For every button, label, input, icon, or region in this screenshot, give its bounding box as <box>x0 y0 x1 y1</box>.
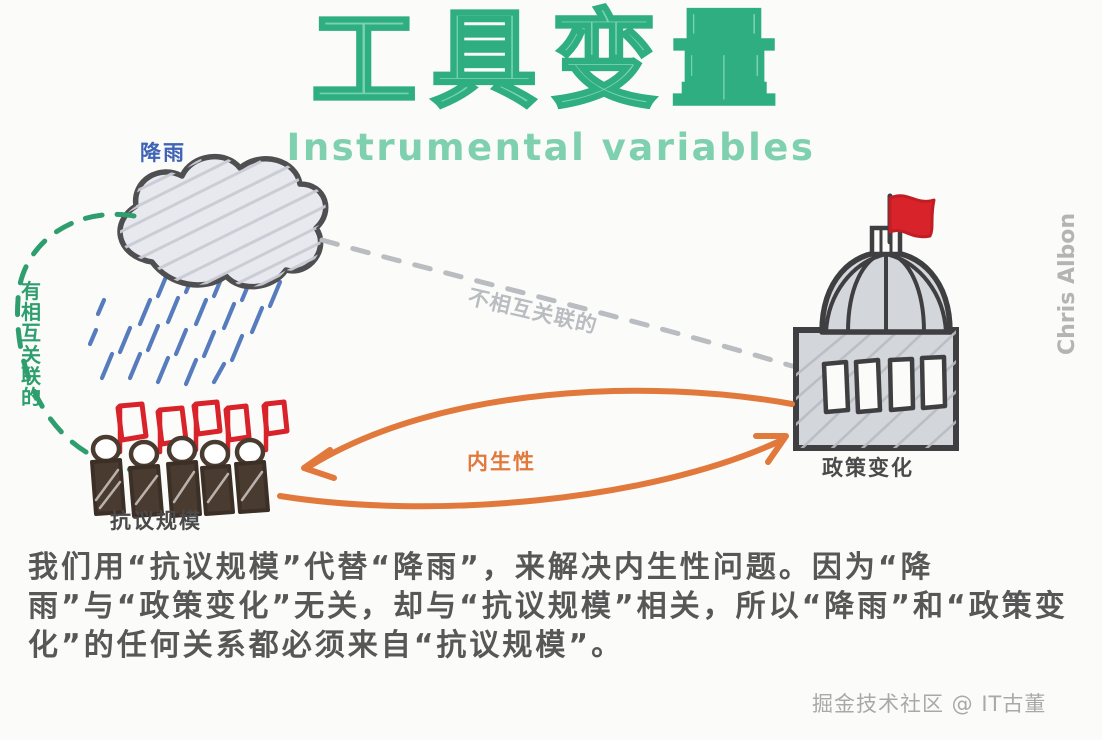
page-title: 工具变量 <box>0 4 1102 118</box>
node-label-protest-size: 抗议规模 <box>110 505 202 535</box>
caption-paragraph: 我们用“抗议规模”代替“降雨”，来解决内生性问题。因为“降雨”与“政策变化”无关… <box>28 548 1074 665</box>
node-label-policy-change: 政策变化 <box>822 452 914 482</box>
rain-cloud-icon <box>118 157 332 294</box>
edge-protest-policy-double-arrow <box>280 391 792 507</box>
edge-label-endogeneity: 内生性 <box>467 446 536 476</box>
author-signature: Chris Albon <box>1055 213 1080 355</box>
diagram-canvas: 工具变量 Instrumental variables 降雨 抗议规模 政策变化… <box>0 0 1102 740</box>
node-label-rainfall: 降雨 <box>140 137 186 167</box>
government-building-icon <box>790 196 960 456</box>
edge-label-correlated: 有相互关联的 <box>14 281 48 408</box>
protesters-with-flags-icon <box>92 402 287 516</box>
watermark: 掘金技术社区 @ IT古董 <box>812 688 1046 718</box>
